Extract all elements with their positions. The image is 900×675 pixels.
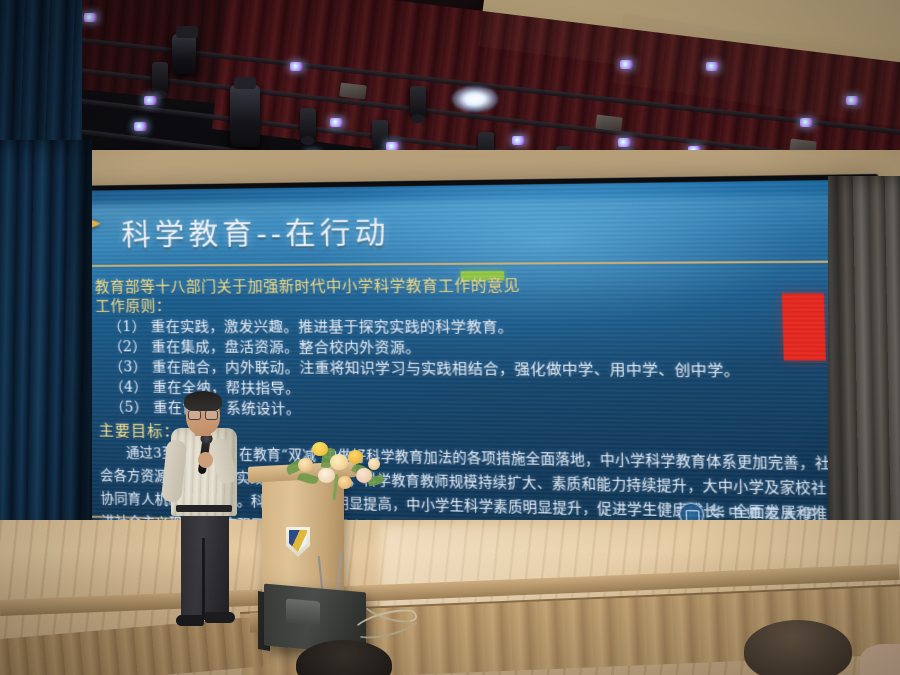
slide-header-line1: 教育部等十八部门关于加强新时代中小学科学教育工作的意见 [95, 276, 836, 298]
principle-number: （2） [108, 339, 147, 355]
ceiling-panel-light [339, 82, 367, 99]
led-wash-light [144, 96, 157, 105]
led-wash-light [330, 118, 343, 127]
stage-light-fixture [300, 108, 316, 138]
led-wash-light [290, 62, 303, 71]
led-wash-light [512, 136, 525, 145]
audience-head [744, 620, 852, 675]
principle-text: 重在集成，盘活资源。整合校内外资源。 [151, 339, 420, 356]
principle-number: （1） [108, 319, 147, 335]
principle-text: 重在协同，系统设计。 [153, 399, 301, 417]
principle-number: （4） [109, 379, 148, 395]
audience-shoulder [860, 644, 900, 675]
led-wash-light [620, 60, 633, 69]
presenter-hair [184, 391, 222, 411]
ceiling-panel-light [595, 114, 623, 131]
stage-light-fixture [152, 62, 168, 92]
principle-number: （3） [109, 359, 148, 375]
eyeglasses-icon [188, 409, 218, 417]
slide-title: 科学教育--在行动 [121, 209, 391, 254]
floral-arrangement [282, 440, 386, 496]
principle-text: 重在融合，内外联动。注重将知识学习与实践相结合，强化做中学、用中学、创中学。 [152, 359, 740, 379]
principle-text: 重在全纳，帮扶指导。 [152, 379, 300, 397]
auditorium-scene: 科学教育--在行动 教育部等十八部门关于加强新时代中小学科学教育工作的意见 工作… [0, 0, 900, 675]
led-wash-light [84, 13, 97, 22]
presenter-hand [198, 452, 213, 468]
bright-spotlight-glare [452, 86, 498, 112]
principle-number: （5） [110, 399, 149, 416]
presenter-shoe-left [176, 615, 204, 626]
led-wash-light [618, 138, 631, 147]
stage-monitor-grille [286, 599, 320, 626]
slide-header-line2: 工作原则： [95, 296, 836, 316]
led-wash-light [706, 62, 719, 71]
presenter-legs [181, 508, 229, 620]
list-item: （1） 重在实践，激发兴趣。推进基于探究实践的科学教育。 [108, 318, 837, 340]
led-wash-light [846, 96, 859, 105]
stage-spotlight [172, 34, 196, 74]
led-wash-light [800, 118, 813, 127]
principle-text: 重在实践，激发兴趣。推进基于探究实践的科学教育。 [151, 319, 514, 336]
presenter-shoe-right [205, 612, 235, 623]
presenter-belt [176, 505, 232, 512]
stage-light-fixture [410, 86, 426, 116]
stage-spotlight [230, 85, 260, 147]
led-wash-light [134, 122, 147, 131]
